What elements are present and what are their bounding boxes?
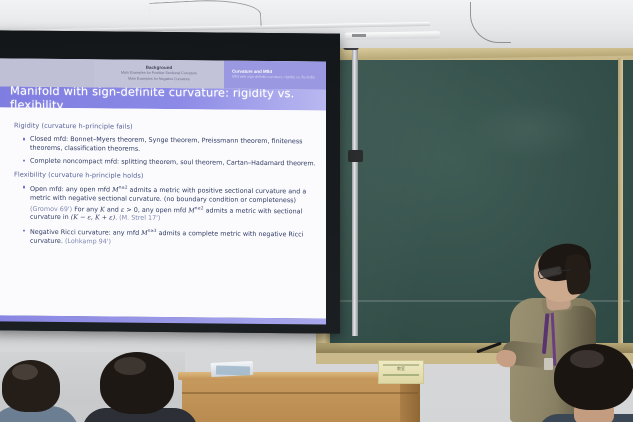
- lecture-hall-photo: ∠ Background Main Examples for Positive …: [0, 0, 633, 422]
- headline-nav-spacer[interactable]: [0, 58, 94, 87]
- headline-nav-current-section[interactable]: Curvature and Mfld Mfld with sign-defini…: [224, 61, 326, 90]
- manifold-dimension: n≥3: [148, 228, 157, 233]
- flexibility-heading: Flexibility (curvature h-principle holds…: [14, 171, 316, 182]
- ricci-text-a: Negative Ricci curvature: any mfd: [30, 228, 141, 237]
- audience-hair-highlight: [12, 364, 38, 380]
- manifold-dimension: n≥2: [195, 205, 204, 210]
- sign-line-1: [383, 364, 419, 366]
- projection-screen: Background Main Examples for Positive Se…: [0, 30, 340, 333]
- flexibility-list: Open mfd: any open mfd Mn≥2 admits a met…: [23, 183, 316, 248]
- slide-headline-nav: Background Main Examples for Positive Se…: [0, 58, 326, 89]
- citation-gromov: (Gromov 69'): [30, 204, 72, 212]
- list-item: Open mfd: any open mfd Mn≥2 admits a met…: [23, 183, 316, 224]
- list-item: Complete noncompact mfd: splitting theor…: [23, 156, 316, 167]
- chalkboard-smudge: [470, 100, 590, 160]
- headline-nav-background[interactable]: Background Main Examples for Positive Se…: [94, 59, 224, 88]
- papers-on-lectern-2: [216, 365, 250, 375]
- open-mfd-condition: (no boundary condition or completeness): [164, 195, 296, 204]
- screen-vertical-rail: [352, 46, 358, 336]
- presentation-slide: Background Main Examples for Positive Se…: [0, 58, 326, 318]
- wall-sign: 教室: [378, 360, 424, 384]
- open-mfd-text-a: Open mfd: any open mfd: [30, 185, 112, 194]
- citation-lohkamp: (Lohkamp 94'): [65, 237, 111, 245]
- audience-member-center: [96, 352, 182, 422]
- chalkboard-panel-seam: [618, 58, 623, 348]
- list-item: Closed mfd: Bonnet–Myers theorem, Synge …: [23, 135, 316, 155]
- ceiling-light-detail: [352, 34, 366, 37]
- audience-hair-highlight: [570, 350, 604, 368]
- rigidity-heading: Rigidity (curvature h-principle fails): [14, 122, 316, 133]
- manifold-dimension: n≥2: [119, 185, 128, 190]
- strel-text-a: For any: [74, 205, 100, 213]
- curvature-interval: (K − ε, K + ε): [71, 213, 115, 221]
- audience-hair-highlight: [114, 357, 146, 375]
- audience-member-right: [548, 344, 633, 422]
- rigidity-list: Closed mfd: Bonnet–Myers theorem, Synge …: [23, 135, 316, 168]
- lectern-edge-line: [182, 392, 418, 394]
- audience-member-left: [0, 360, 70, 422]
- strel-text-b: and: [105, 205, 121, 213]
- sign-line-2: [383, 374, 419, 376]
- list-item: Negative Ricci curvature: any mfd Mn≥3 a…: [23, 226, 316, 248]
- headline-current-subsection: Mfld with sign-definite curvature: rigid…: [232, 75, 326, 81]
- sign-text: 教室: [379, 366, 423, 371]
- strel-text-c: > 0, any open mfd: [124, 205, 188, 214]
- rail-clamp: [348, 150, 363, 162]
- citation-strel: (M. Strel 17'): [119, 214, 160, 222]
- headline-subsection-2: Main Examples for Negative Curvature: [128, 76, 190, 82]
- slide-body: Rigidity (curvature h-principle fails) C…: [0, 107, 326, 318]
